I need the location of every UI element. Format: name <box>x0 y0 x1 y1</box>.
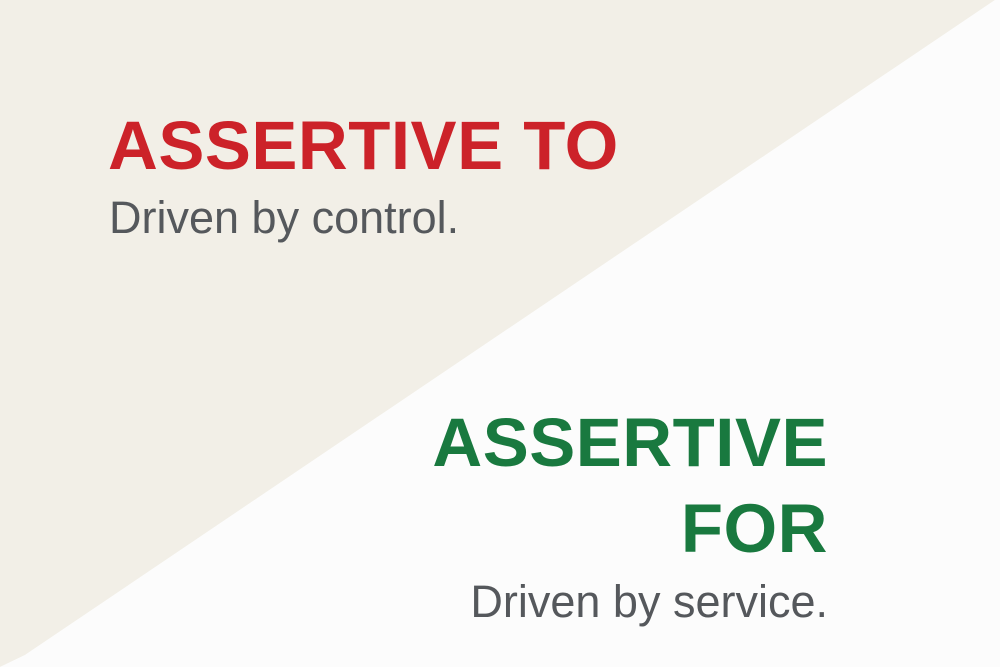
assertive-to-subtitle: Driven by control. <box>109 190 619 246</box>
assertive-for-block: ASSERTIVE FOR Driven by service. <box>428 400 828 630</box>
comparison-graphic: ASSERTIVE TO Driven by control. ASSERTIV… <box>0 0 1000 667</box>
assertive-to-block: ASSERTIVE TO Driven by control. <box>108 104 619 246</box>
assertive-for-headline-line1: ASSERTIVE <box>428 400 828 486</box>
assertive-for-headline-line2: FOR <box>428 486 828 572</box>
assertive-to-headline: ASSERTIVE TO <box>108 104 619 188</box>
assertive-for-subtitle: Driven by service. <box>428 574 828 630</box>
